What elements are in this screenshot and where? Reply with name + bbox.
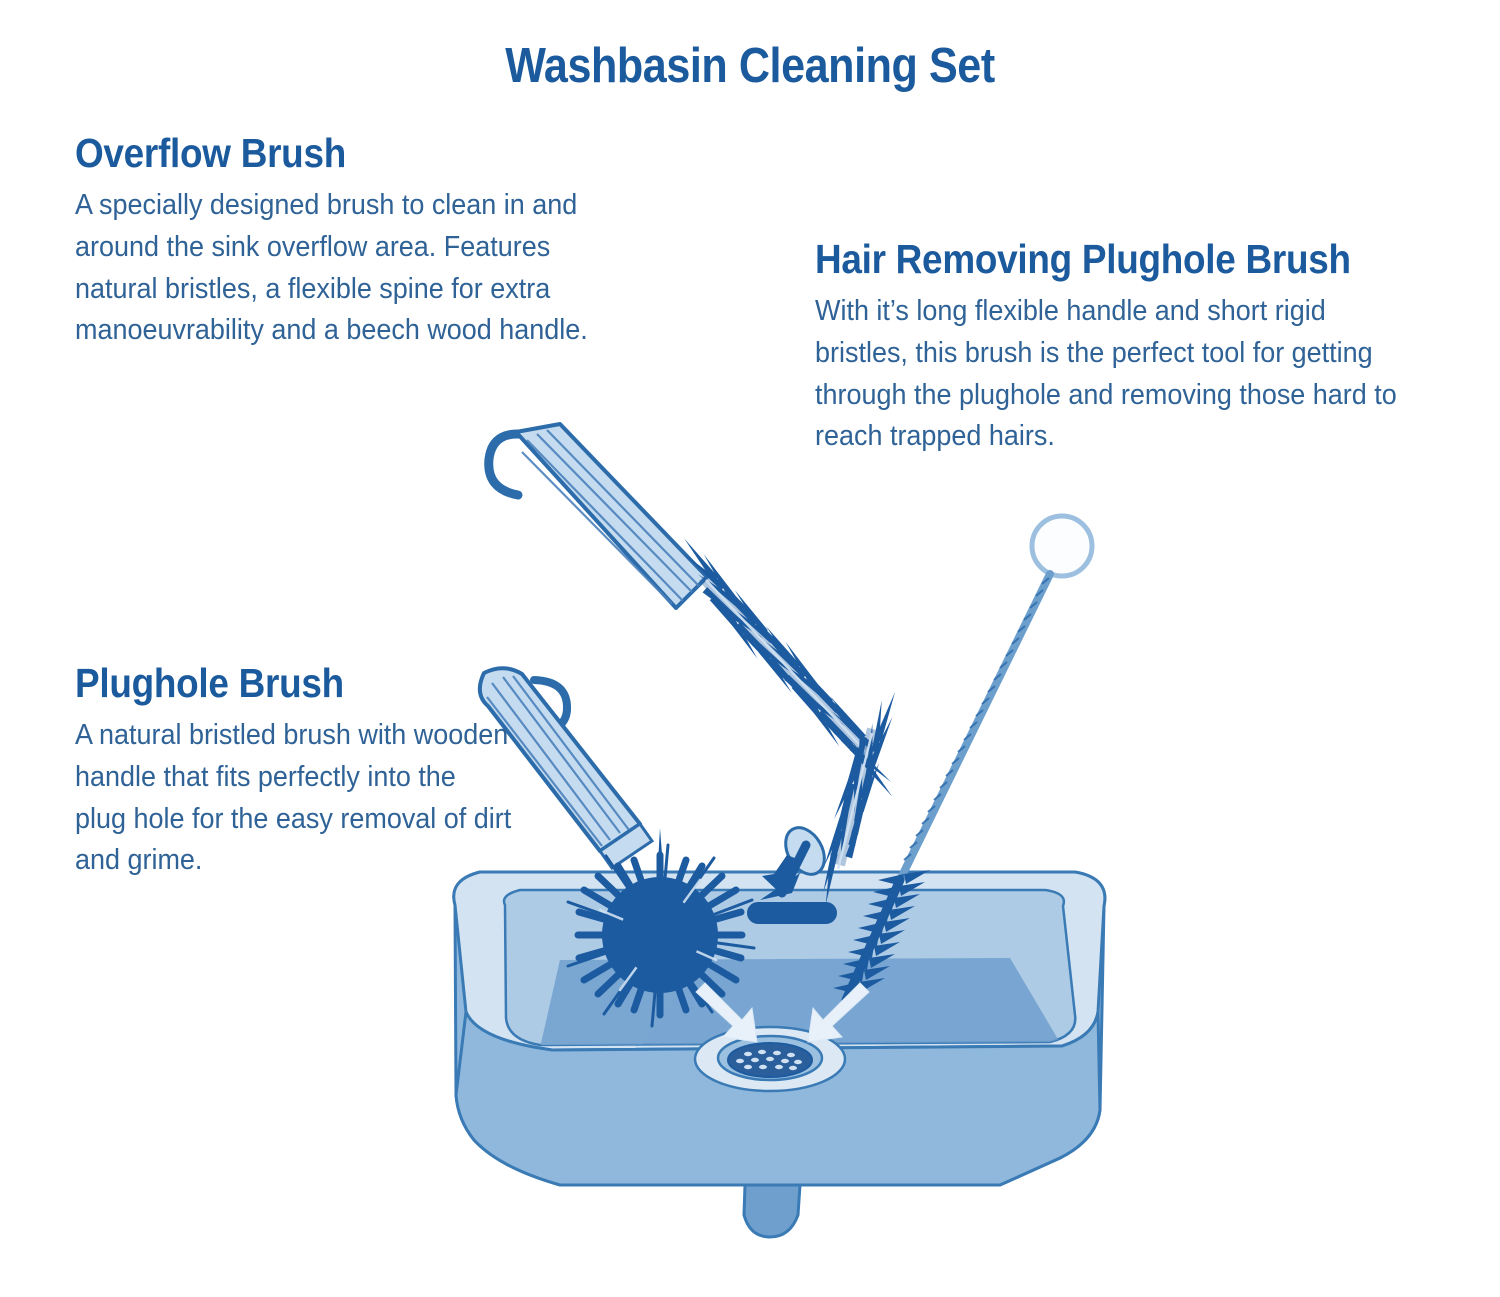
section-body-hair-removing-plughole-brush: With it’s long flexible handle and short…: [815, 291, 1410, 458]
section-hair-removing-plughole-brush: Hair Removing Plughole Brush With it’s l…: [815, 236, 1455, 458]
section-heading-plughole-brush: Plughole Brush: [75, 660, 498, 707]
arrow-to-drain-right: [808, 983, 869, 1042]
section-plughole-brush: Plughole Brush A natural bristled brush …: [75, 660, 545, 882]
washbasin-body: [454, 872, 1105, 1237]
section-overflow-brush: Overflow Brush A specially designed brus…: [75, 130, 675, 352]
bristle-run-upper: [660, 533, 915, 803]
hair-brush-bristles: [833, 870, 930, 1000]
section-body-overflow-brush: A specially designed brush to clean in a…: [75, 185, 633, 352]
arrow-to-drain-left: [696, 983, 757, 1042]
bristle-run-lower: [810, 684, 903, 911]
drain-strainer: [695, 1027, 845, 1091]
overflow-slot: [748, 903, 836, 923]
arrow-to-overflow: [760, 845, 806, 900]
section-body-plughole-brush: A natural bristled brush with wooden han…: [75, 715, 512, 882]
hair-removing-plughole-brush: [833, 516, 1092, 1000]
page-title: Washbasin Cleaning Set: [90, 38, 1410, 94]
infographic-page: Washbasin Cleaning Set: [0, 0, 1500, 1297]
bristle-ball: [568, 828, 754, 1026]
section-heading-overflow-brush: Overflow Brush: [75, 130, 615, 177]
overflow-brush: [489, 424, 916, 911]
section-heading-hair-removing-plughole-brush: Hair Removing Plughole Brush: [815, 236, 1391, 283]
